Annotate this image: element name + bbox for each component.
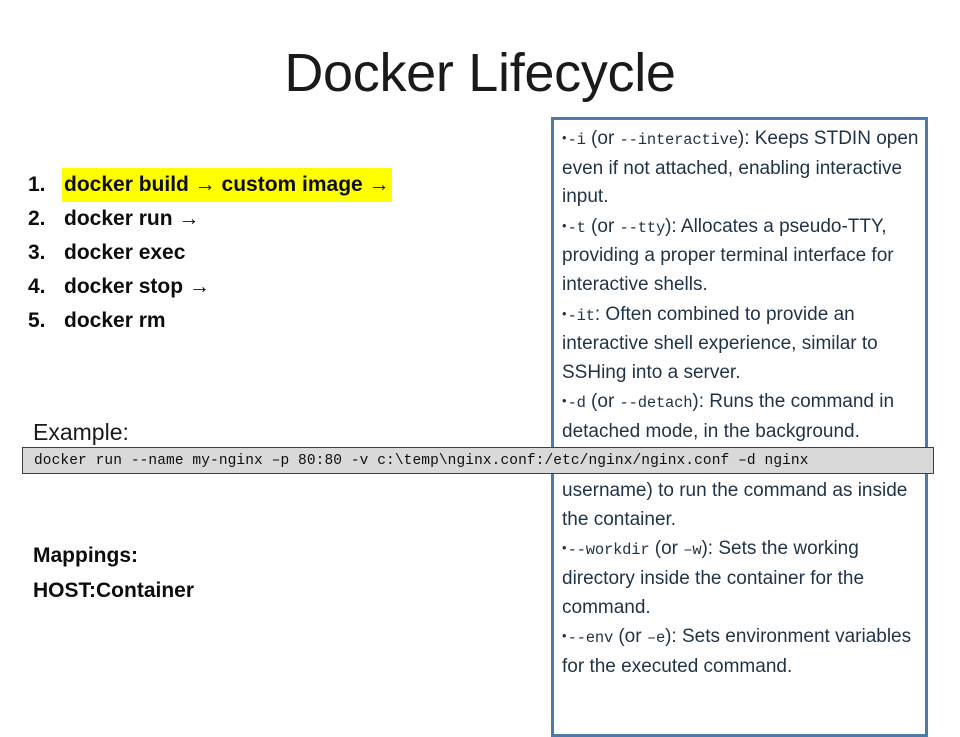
flag-alias-prefix: (or [649, 538, 683, 559]
list-item-number: 3. [28, 236, 62, 270]
list-item: 4.docker stop → [28, 270, 488, 304]
flag-list-item: •--env (or –e): Sets environment variabl… [562, 622, 919, 681]
list-item-number: 2. [28, 202, 62, 236]
docker-run-flags-panel: •-i (or --interactive): Keeps STDIN open… [551, 117, 928, 737]
flag-name: -it [568, 307, 595, 325]
flag-alias-prefix: (or [586, 216, 620, 237]
list-item-number: 5. [28, 304, 62, 338]
list-item-label: docker stop → [62, 270, 212, 304]
list-item: 5.docker rm [28, 304, 488, 338]
lifecycle-step-list: 1.docker build → custom image →2.docker … [28, 168, 488, 338]
flag-alias: –e [647, 629, 665, 647]
flag-alias: --detach [620, 394, 693, 412]
flag-list-item: •-t (or --tty): Allocates a pseudo-TTY, … [562, 212, 919, 300]
flag-list-item: •-i (or --interactive): Keeps STDIN open… [562, 124, 919, 212]
flag-alias-prefix: (or [586, 128, 620, 149]
flag-alias-prefix: (or [613, 626, 647, 647]
flag-alias-prefix: (or [586, 391, 620, 412]
example-command-box: docker run --name my-nginx –p 80:80 -v c… [22, 447, 934, 474]
flag-description: : Often combined to provide an interacti… [562, 304, 878, 383]
list-item-number: 4. [28, 270, 62, 304]
page-title: Docker Lifecycle [0, 42, 960, 104]
list-item-label: docker build → custom image → [62, 168, 392, 202]
example-label: Example: [33, 418, 129, 446]
flag-list-item: •--workdir (or –w): Sets the working dir… [562, 534, 919, 622]
flag-name: -d [568, 394, 586, 412]
mappings-heading: Mappings: [33, 538, 194, 573]
list-item: 3.docker exec [28, 236, 488, 270]
flag-alias: --tty [620, 219, 666, 237]
list-item-label: docker exec [62, 236, 187, 270]
flag-list-item: •-it: Often combined to provide an inter… [562, 300, 919, 388]
flag-name: --env [568, 629, 614, 647]
list-item-label: docker run → [62, 202, 201, 236]
flag-name: -t [568, 219, 586, 237]
list-item: 1.docker build → custom image → [28, 168, 488, 202]
flag-list-item: •-d (or --detach): Runs the command in d… [562, 387, 919, 446]
example-command-text: docker run --name my-nginx –p 80:80 -v c… [23, 452, 809, 470]
flag-name: -i [568, 131, 586, 149]
mappings-block: Mappings: HOST:Container [33, 538, 194, 608]
flag-name: --workdir [568, 541, 650, 559]
flag-alias: –w [683, 541, 701, 559]
mappings-value: HOST:Container [33, 573, 194, 608]
list-item-label: docker rm [62, 304, 168, 338]
list-item-number: 1. [28, 168, 62, 202]
docker-run-flags-list: •-i (or --interactive): Keeps STDIN open… [554, 120, 925, 681]
list-item: 2.docker run → [28, 202, 488, 236]
flag-alias: --interactive [620, 131, 738, 149]
